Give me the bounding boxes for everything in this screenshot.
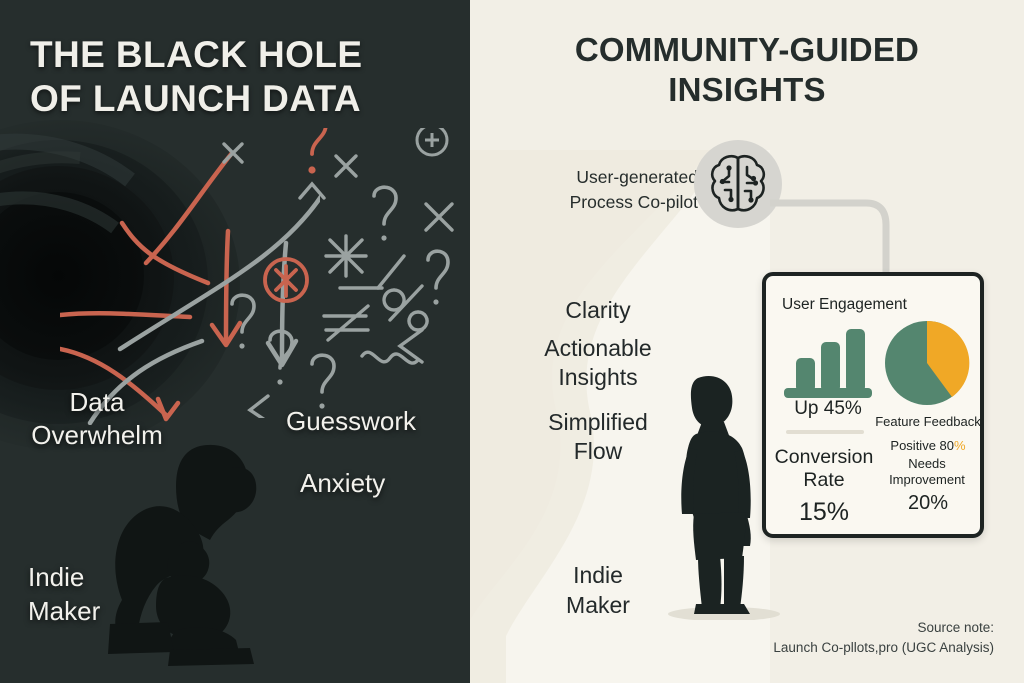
needs-line-2: Improvement	[866, 472, 988, 488]
left-panel-title: THE BLACK HOLE OF LAUNCH DATA	[30, 33, 450, 120]
copilot-label-line-2: Process Co-pilot	[518, 190, 698, 215]
source-note: Source note: Launch Co-pllots,pro (UGC A…	[684, 618, 1004, 659]
bar-3	[846, 329, 865, 392]
left-title-line-1: THE BLACK HOLE	[30, 33, 450, 77]
feedback-label: Feature Feedback	[872, 414, 984, 429]
positive-value: 80	[940, 438, 954, 453]
label-indie-maker-right: Indie Maker	[538, 560, 658, 621]
copilot-label: User-generated Process Co-pilot	[518, 165, 698, 216]
conversion-rate-label: Conversion Rate	[768, 446, 880, 492]
dashboard-card[interactable]: User Engagement Up 45% Conversion Rate 1…	[762, 272, 984, 538]
standing-person-silhouette	[650, 368, 780, 620]
seated-thinker-silhouette	[82, 424, 332, 674]
benefit-clarity: Clarity	[522, 296, 674, 325]
bar-1	[796, 358, 815, 392]
left-title-line-2: OF LAUNCH DATA	[30, 77, 450, 121]
bar-2	[821, 342, 840, 392]
right-title-line-1: COMMUNITY-GUIDED	[470, 30, 1024, 70]
overwhelm-line-1: Data	[0, 386, 202, 419]
conversion-line-2: Rate	[768, 469, 880, 492]
card-title: User Engagement	[782, 296, 907, 314]
needs-line-1: Needs	[866, 456, 988, 472]
copilot-label-line-1: User-generated	[518, 165, 698, 190]
actionable-line-1: Actionable	[510, 334, 686, 363]
indie-right-line-1: Indie	[538, 560, 658, 590]
source-note-line-1: Source note:	[684, 618, 994, 638]
conversion-rate-value: 15%	[768, 498, 880, 527]
positive-feedback-line: Positive 80%	[872, 438, 984, 453]
needs-improvement-label: Needs Improvement	[866, 456, 988, 488]
right-title-line-2: INSIGHTS	[470, 70, 1024, 110]
needs-improvement-value: 20%	[872, 492, 984, 515]
indie-right-line-2: Maker	[538, 590, 658, 620]
card-divider	[786, 430, 864, 434]
right-panel-solution: COMMUNITY-GUIDED INSIGHTS User-generated…	[470, 0, 1024, 683]
chaos-symbols-scribbles	[190, 128, 470, 418]
right-panel-title: COMMUNITY-GUIDED INSIGHTS	[470, 30, 1024, 111]
source-note-line-2: Launch Co-pllots,pro (UGC Analysis)	[684, 638, 994, 658]
positive-percent-sign: %	[954, 438, 966, 453]
copilot-badge[interactable]	[694, 140, 782, 228]
conversion-line-1: Conversion	[768, 446, 880, 469]
infographic-canvas: THE BLACK HOLE OF LAUNCH DATA	[0, 0, 1024, 683]
feature-feedback-pie-chart	[884, 320, 970, 406]
brain-circuit-icon	[707, 151, 769, 217]
positive-text: Positive	[890, 438, 939, 453]
engagement-bar-chart	[784, 328, 872, 398]
left-panel-problem: THE BLACK HOLE OF LAUNCH DATA	[0, 0, 470, 683]
engagement-caption: Up 45%	[778, 398, 878, 420]
